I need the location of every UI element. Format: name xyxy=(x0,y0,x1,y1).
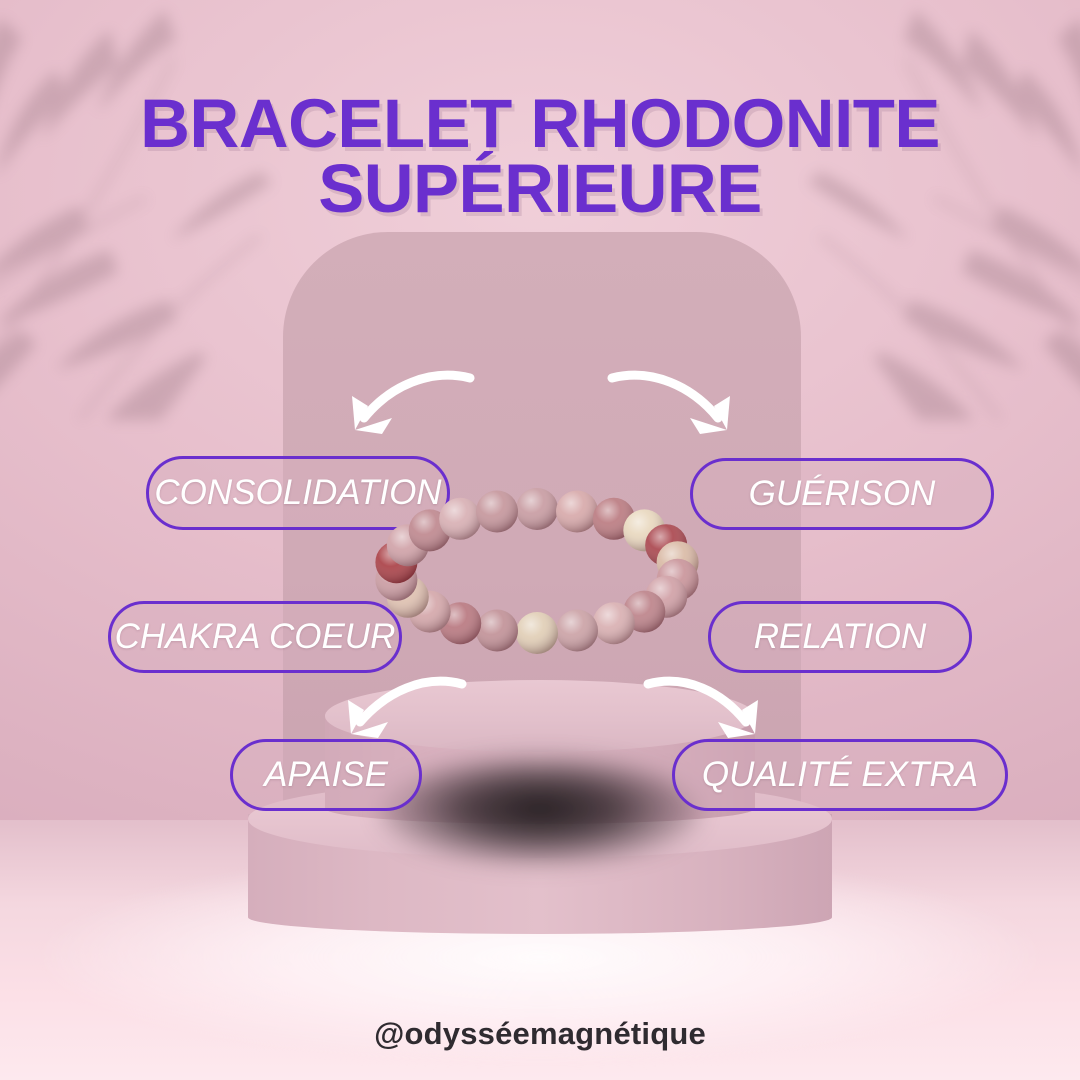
product-shadow xyxy=(379,757,701,865)
bracelet-bead-shading xyxy=(593,602,635,644)
page-title: BRACELET RHODONITE SUPÉRIEURE xyxy=(0,92,1080,222)
promo-graphic: BRACELET RHODONITE SUPÉRIEURE CONSOLIDAT… xyxy=(0,0,1080,1080)
bracelet-bead-shading xyxy=(556,610,598,652)
bracelet-bead-shading xyxy=(516,612,558,654)
bracelet-product-image xyxy=(362,482,712,660)
badge-qualite-extra[interactable]: QUALITÉ EXTRA xyxy=(672,739,1008,811)
badge-label: QUALITÉ EXTRA xyxy=(702,755,978,795)
badge-guerison[interactable]: GUÉRISON xyxy=(690,458,994,530)
badge-apaise[interactable]: APAISE xyxy=(230,739,422,811)
bracelet-bead-shading xyxy=(516,488,558,530)
badge-label: CHAKRA COEUR xyxy=(115,617,396,657)
badge-chakra-coeur[interactable]: CHAKRA COEUR xyxy=(108,601,402,673)
badge-relation[interactable]: RELATION xyxy=(708,601,972,673)
badge-label: RELATION xyxy=(754,617,926,657)
title-line-2: SUPÉRIEURE xyxy=(0,157,1080,222)
bracelet-bead-shading xyxy=(476,491,518,533)
bracelet-bead-shading xyxy=(556,491,598,533)
badge-label: GUÉRISON xyxy=(749,474,936,514)
bracelet-bead-shading xyxy=(476,610,518,652)
instagram-handle: @odysséemagnétique xyxy=(0,1016,1080,1052)
bracelet-bead-shading xyxy=(439,498,481,540)
badge-label: APAISE xyxy=(264,755,388,795)
